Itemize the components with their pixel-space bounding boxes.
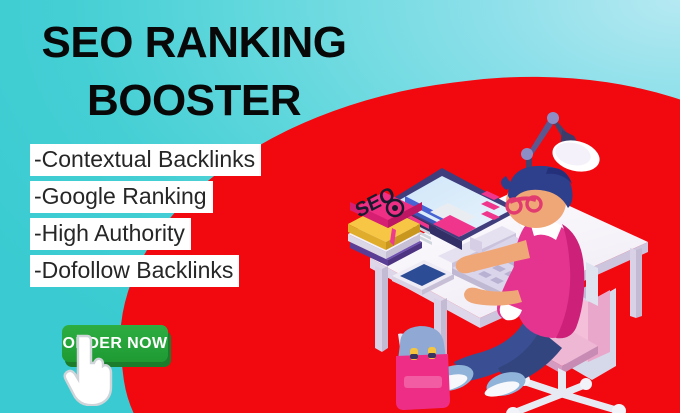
list-item: -Google Ranking — [30, 181, 261, 218]
seo-workspace-illustration: SEO — [330, 90, 680, 413]
feature-label: -High Authority — [30, 218, 191, 250]
seo-service-poster: SEO RANKING BOOSTER -Contextual Backlink… — [0, 0, 680, 413]
headline-line-2: BOOSTER — [0, 72, 388, 130]
order-now-container: ORDER NOW — [62, 325, 168, 362]
feature-label: -Google Ranking — [30, 181, 213, 213]
backpack-icon — [396, 326, 450, 410]
order-now-button[interactable]: ORDER NOW — [62, 325, 168, 362]
list-item: -High Authority — [30, 218, 261, 255]
list-item: -Contextual Backlinks — [30, 144, 261, 181]
headline-line-1: SEO RANKING — [0, 14, 388, 72]
feature-label: -Dofollow Backlinks — [30, 255, 239, 287]
page-title: SEO RANKING BOOSTER — [0, 14, 388, 130]
feature-list: -Contextual Backlinks -Google Ranking -H… — [30, 144, 261, 292]
list-item: -Dofollow Backlinks — [30, 255, 261, 292]
feature-label: -Contextual Backlinks — [30, 144, 261, 176]
